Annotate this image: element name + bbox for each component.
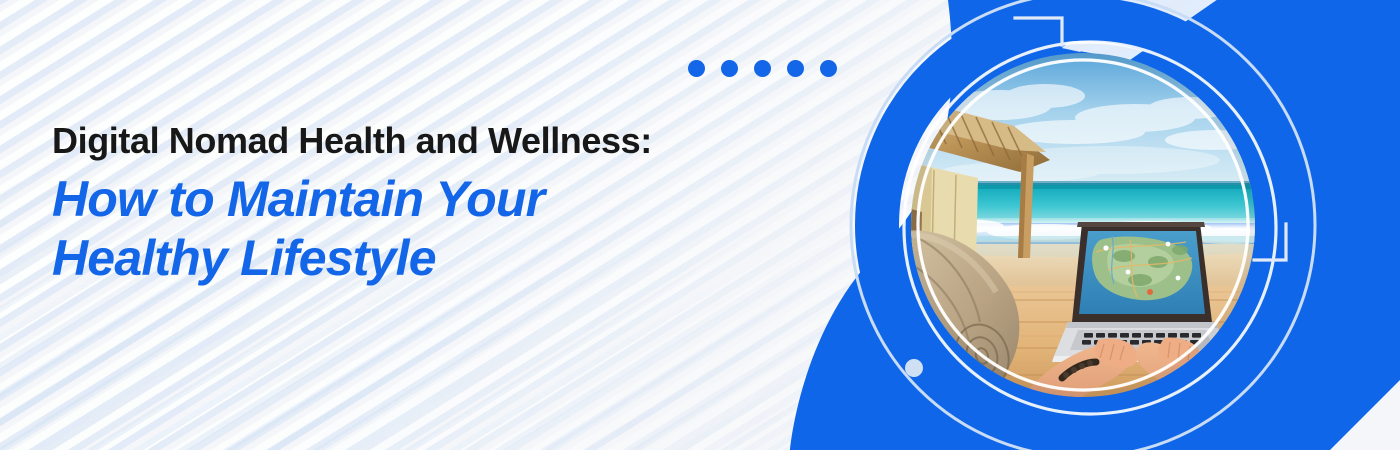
accent-dot: [787, 60, 804, 77]
headline-line-2: How to Maintain Your: [52, 170, 812, 229]
light-blue-orbit-dot: [905, 359, 923, 377]
banner-root: Digital Nomad Health and Wellness: How t…: [0, 0, 1400, 450]
headline-block: Digital Nomad Health and Wellness: How t…: [52, 118, 812, 288]
accent-dot: [721, 60, 738, 77]
laptop-screen-map: [1079, 231, 1205, 314]
headline-line-3: Healthy Lifestyle: [52, 229, 812, 288]
headline-line-1: Digital Nomad Health and Wellness:: [52, 118, 812, 164]
five-dot-accent: [688, 60, 837, 77]
accent-dot: [688, 60, 705, 77]
accent-dot: [754, 60, 771, 77]
accent-dot: [820, 60, 837, 77]
